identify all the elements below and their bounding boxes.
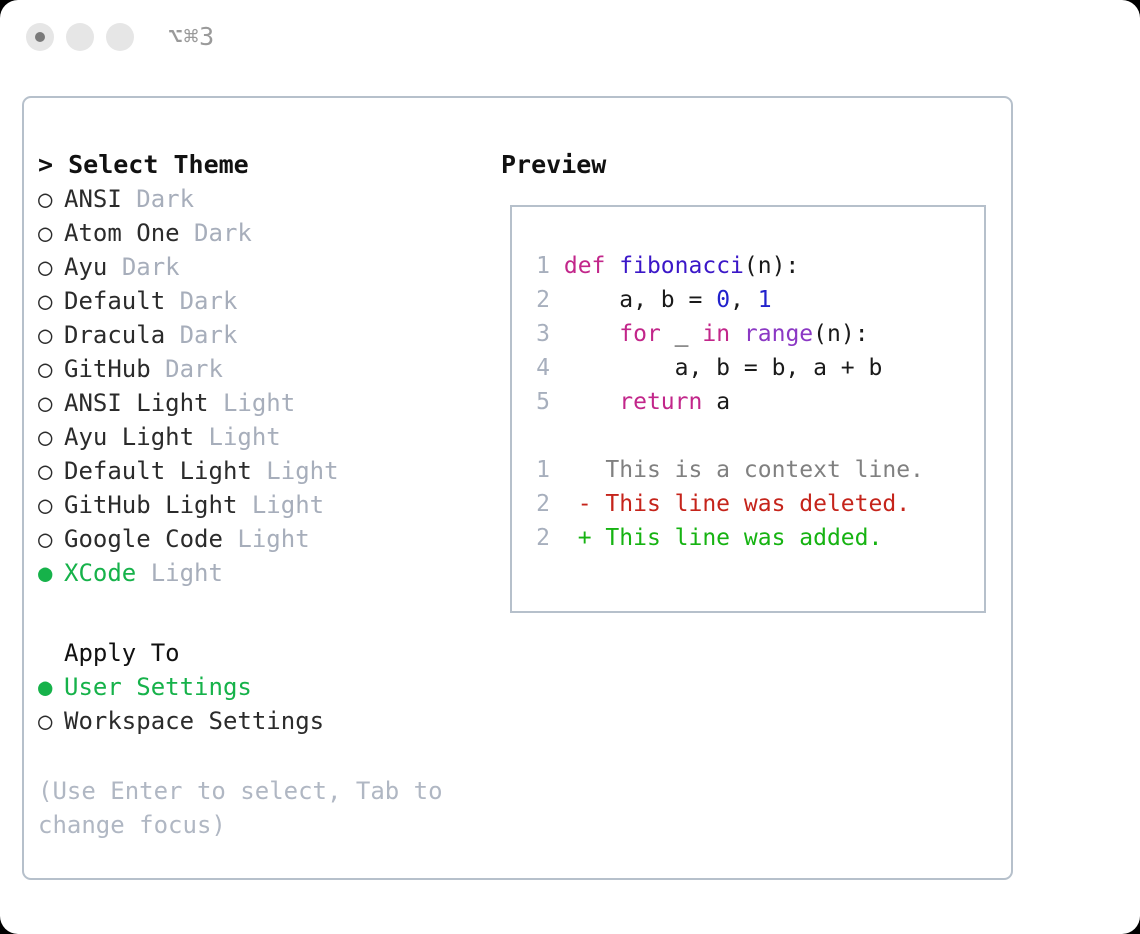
- window-titlebar: ⌥⌘3: [0, 0, 1140, 80]
- line-number: 4: [528, 351, 550, 385]
- theme-name: Ayu Light: [64, 423, 194, 451]
- window-dot-3[interactable]: [106, 23, 134, 51]
- code-token: (n):: [813, 321, 868, 347]
- code-line: 3 for _ in range(n):: [528, 317, 978, 351]
- diff-text: This is a context line.: [605, 457, 924, 483]
- spacer: [209, 389, 223, 417]
- theme-variant-badge: Light: [237, 525, 309, 553]
- code-preview-area: 1 def fibonacci(n):2 a, b = 0, 13 for _ …: [528, 249, 978, 555]
- theme-list-item[interactable]: ○Dracula Dark: [38, 318, 488, 352]
- diff-text: This line was deleted.: [605, 491, 910, 517]
- theme-name: Dracula: [64, 321, 165, 349]
- preview-box: 1 def fibonacci(n):2 a, b = 0, 13 for _ …: [510, 205, 986, 613]
- keyboard-shortcut-label: ⌥⌘3: [168, 22, 215, 52]
- theme-variant-badge: Dark: [165, 355, 223, 383]
- theme-list-item[interactable]: ○Atom One Dark: [38, 216, 488, 250]
- code-token: [605, 253, 619, 279]
- radio-selected-icon: ●: [38, 556, 64, 590]
- diff-line-added: 2 + This line was added.: [528, 521, 978, 555]
- line-number: 1: [528, 249, 550, 283]
- apply-to-label: Workspace Settings: [64, 707, 324, 735]
- window-dot-2[interactable]: [66, 23, 94, 51]
- line-number: 2: [528, 521, 550, 555]
- diff-marker: [578, 457, 606, 483]
- theme-name: Atom One: [64, 219, 180, 247]
- spacer: [165, 321, 179, 349]
- code-token: range: [744, 321, 813, 347]
- code-line: 4 a, b = b, a + b: [528, 351, 978, 385]
- spacer: [165, 287, 179, 315]
- theme-variant-badge: Light: [223, 389, 295, 417]
- radio-unselected-icon: ○: [38, 352, 64, 386]
- theme-variant-badge: Light: [151, 559, 223, 587]
- select-theme-header: > Select Theme: [38, 148, 488, 182]
- spacer: [107, 253, 121, 281]
- theme-name: ANSI Light: [64, 389, 209, 417]
- radio-unselected-icon: ○: [38, 318, 64, 352]
- theme-list-item[interactable]: ●XCode Light: [38, 556, 488, 590]
- diff-line-context: 1 This is a context line.: [528, 453, 978, 487]
- radio-unselected-icon: ○: [38, 488, 64, 522]
- theme-list-item[interactable]: ○Ayu Dark: [38, 250, 488, 284]
- line-number: 5: [528, 385, 550, 419]
- radio-unselected-icon: ○: [38, 216, 64, 250]
- radio-unselected-icon: ○: [38, 386, 64, 420]
- theme-list-item[interactable]: ○Ayu Light Light: [38, 420, 488, 454]
- radio-unselected-icon: ○: [38, 454, 64, 488]
- line-number: 2: [528, 487, 550, 521]
- app-window: ⌥⌘3 > Select Theme ○ANSI Dark○Atom One D…: [0, 0, 1140, 934]
- code-token: [564, 321, 619, 347]
- spacer: [180, 219, 194, 247]
- code-sample: 1 def fibonacci(n):2 a, b = 0, 13 for _ …: [528, 249, 978, 419]
- code-token: 1: [758, 287, 772, 313]
- apply-to-list: ●User Settings○Workspace Settings: [38, 670, 488, 738]
- section-spacer: [38, 590, 488, 636]
- theme-list-item[interactable]: ○ANSI Light Light: [38, 386, 488, 420]
- gutter-gap: [550, 287, 564, 313]
- diff-line-deleted: 2 - This line was deleted.: [528, 487, 978, 521]
- code-token: fibonacci: [619, 253, 744, 279]
- theme-name: ANSI: [64, 185, 122, 213]
- code-token: _: [661, 321, 703, 347]
- radio-unselected-icon: ○: [38, 284, 64, 318]
- code-token: 0: [716, 287, 730, 313]
- code-token: a: [702, 389, 730, 415]
- code-token: in: [702, 321, 730, 347]
- theme-variant-badge: Dark: [180, 287, 238, 315]
- gutter-gap: [550, 355, 564, 381]
- code-token: a, b =: [564, 287, 716, 313]
- diff-text: This line was added.: [605, 525, 882, 551]
- gutter-gap: [550, 491, 578, 517]
- gutter-gap: [550, 525, 578, 551]
- line-number: 2: [528, 283, 550, 317]
- theme-variant-badge: Light: [266, 457, 338, 485]
- apply-to-option[interactable]: ●User Settings: [38, 670, 488, 704]
- theme-list-item[interactable]: ○Google Code Light: [38, 522, 488, 556]
- radio-unselected-icon: ○: [38, 704, 64, 738]
- preview-column: Preview 1 def fibonacci(n):2 a, b = 0, 1…: [501, 148, 1001, 182]
- gutter-gap: [550, 321, 564, 347]
- code-token: ,: [730, 287, 758, 313]
- spacer: [194, 423, 208, 451]
- diff-sample: 1 This is a context line.2 - This line w…: [528, 453, 978, 555]
- window-dot-active[interactable]: [26, 23, 54, 51]
- theme-variant-badge: Dark: [122, 253, 180, 281]
- spacer: [151, 355, 165, 383]
- radio-unselected-icon: ○: [38, 182, 64, 216]
- code-token: return: [619, 389, 702, 415]
- radio-unselected-icon: ○: [38, 522, 64, 556]
- code-token: a, b = b, a + b: [564, 355, 883, 381]
- code-line: 2 a, b = 0, 1: [528, 283, 978, 317]
- code-token: [730, 321, 744, 347]
- theme-variant-badge: Dark: [194, 219, 252, 247]
- code-token: for: [619, 321, 661, 347]
- code-token: def: [564, 253, 606, 279]
- theme-name: Default: [64, 287, 165, 315]
- theme-list-item[interactable]: ○GitHub Light Light: [38, 488, 488, 522]
- theme-picker-panel: > Select Theme ○ANSI Dark○Atom One Dark○…: [22, 96, 1013, 880]
- radio-unselected-icon: ○: [38, 250, 64, 284]
- line-number: 1: [528, 453, 550, 487]
- theme-name: GitHub: [64, 355, 151, 383]
- code-blank-line: [528, 419, 978, 453]
- diff-marker: -: [578, 491, 606, 517]
- gutter-gap: [550, 457, 578, 483]
- radio-selected-icon: ●: [38, 670, 64, 704]
- theme-list-item[interactable]: ○ANSI Dark: [38, 182, 488, 216]
- theme-variant-badge: Dark: [180, 321, 238, 349]
- theme-list-item[interactable]: ○Default Dark: [38, 284, 488, 318]
- theme-name: GitHub Light: [64, 491, 237, 519]
- theme-variant-badge: Light: [209, 423, 281, 451]
- preview-header: Preview: [501, 148, 1001, 182]
- apply-to-option[interactable]: ○Workspace Settings: [38, 704, 488, 738]
- apply-to-header: Apply To: [38, 636, 488, 670]
- theme-name: Ayu: [64, 253, 107, 281]
- theme-list-item[interactable]: ○GitHub Dark: [38, 352, 488, 386]
- theme-name: XCode: [64, 559, 136, 587]
- theme-list: ○ANSI Dark○Atom One Dark○Ayu Dark○Defaul…: [38, 182, 488, 590]
- code-token: [564, 389, 619, 415]
- theme-variant-badge: Light: [252, 491, 324, 519]
- theme-name: Google Code: [64, 525, 223, 553]
- window-dot-active-inner: [35, 32, 45, 42]
- apply-to-label: User Settings: [64, 673, 252, 701]
- keyboard-hint-text: (Use Enter to select, Tab to change focu…: [38, 774, 448, 842]
- spacer: [237, 491, 251, 519]
- spacer: [252, 457, 266, 485]
- line-number: 3: [528, 317, 550, 351]
- spacer: [122, 185, 136, 213]
- theme-variant-badge: Dark: [136, 185, 194, 213]
- spacer: [136, 559, 150, 587]
- spacer: [223, 525, 237, 553]
- gutter-gap: [550, 253, 564, 279]
- code-token: (n):: [744, 253, 799, 279]
- code-line: 5 return a: [528, 385, 978, 419]
- theme-name: Default Light: [64, 457, 252, 485]
- theme-list-column: > Select Theme ○ANSI Dark○Atom One Dark○…: [38, 148, 488, 842]
- gutter-gap: [550, 389, 564, 415]
- theme-list-item[interactable]: ○Default Light Light: [38, 454, 488, 488]
- code-line: 1 def fibonacci(n):: [528, 249, 978, 283]
- diff-marker: +: [578, 525, 606, 551]
- radio-unselected-icon: ○: [38, 420, 64, 454]
